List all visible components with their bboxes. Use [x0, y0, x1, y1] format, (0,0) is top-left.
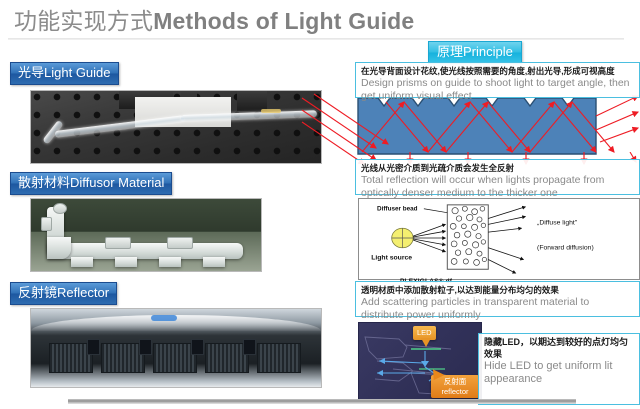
photo-reflector	[30, 308, 322, 388]
label-reflector-en: Reflector	[57, 285, 109, 300]
title-divider	[8, 38, 624, 40]
title-bar: 功能实现方式Methods of Light Guide	[0, 0, 640, 40]
callout-total-reflection: 光线从光密介质到光疏介质会发生全反射 Total reflection will…	[355, 159, 640, 195]
callout-reflector: 反射面 reflector	[431, 375, 479, 398]
photo-diffusor-material	[30, 198, 262, 272]
label-principle[interactable]: 原理Principle	[428, 41, 522, 64]
callout-scattering: 透明材质中添加散射粒子,以达到能量分布均匀的效果 Add scattering …	[355, 281, 640, 317]
callout-hide-led-en: Hide LED to get uniform lit appearance	[484, 360, 634, 386]
callout-principle-en: Design prisms on guide to shoot light to…	[361, 77, 634, 102]
callout-hide-led-cn: 隐藏LED，以期达到较好的点灯均匀效果	[484, 337, 634, 360]
page-title-cn: 功能实现方式	[14, 8, 153, 34]
callout-total-reflection-en: Total reflection will occur when lights …	[361, 174, 634, 199]
label-diffusor[interactable]: 散射材料Diffusor Material	[10, 172, 172, 195]
label-light-guide-cn: 光导	[18, 65, 44, 80]
led-reflector-schematic: LED 反射面 reflector	[358, 322, 482, 402]
label-light-guide[interactable]: 光导Light Guide	[10, 62, 119, 85]
footer-divider	[68, 399, 576, 404]
light-guide-body	[358, 98, 596, 154]
label-reflector-cn: 反射镜	[18, 285, 57, 300]
label-principle-cn: 原理	[437, 44, 463, 59]
callout-led-tail	[421, 338, 431, 347]
callout-reflector-cn: 反射面	[435, 377, 475, 387]
callout-reflector-en: reflector	[435, 387, 475, 397]
label-light-source: Light source	[371, 254, 412, 261]
callout-led-label: LED	[417, 328, 432, 338]
label-diffuse-light: „Diffuse light"	[537, 219, 578, 226]
callout-total-reflection-cn: 光线从光密介质到光疏介质会发生全反射	[361, 163, 634, 174]
label-diffusor-cn: 散射材料	[18, 175, 70, 190]
label-diffuser-bead: Diffuser bead	[377, 206, 418, 213]
callout-principle-cn: 在光导背面设计花纹,使光线按照需要的角度,射出光导,形成可视高度	[361, 66, 634, 77]
callout-hide-led: 隐藏LED，以期达到较好的点灯均匀效果 Hide LED to get unif…	[478, 333, 640, 405]
diffusor-schematic: Diffuser bead Light source „Diffuse ligh…	[358, 198, 640, 280]
label-forward-diffusion: (Forward diffusion)	[537, 245, 594, 252]
callout-principle: 在光导背面设计花纹,使光线按照需要的角度,射出光导,形成可视高度 Design …	[355, 62, 640, 98]
page-title-en: Methods of Light Guide	[153, 8, 414, 34]
label-light-guide-en: Light Guide	[44, 65, 111, 80]
photo-light-guide	[30, 90, 322, 164]
callout-scattering-cn: 透明材质中添加散射粒子,以达到能量分布均匀的效果	[361, 285, 634, 296]
callout-scattering-en: Add scattering particles in transparent …	[361, 296, 634, 321]
label-diffusor-en: Diffusor Material	[70, 175, 164, 190]
page-title: 功能实现方式Methods of Light Guide	[14, 2, 414, 36]
label-principle-en: Principle	[463, 44, 513, 59]
label-reflector[interactable]: 反射镜Reflector	[10, 282, 117, 305]
